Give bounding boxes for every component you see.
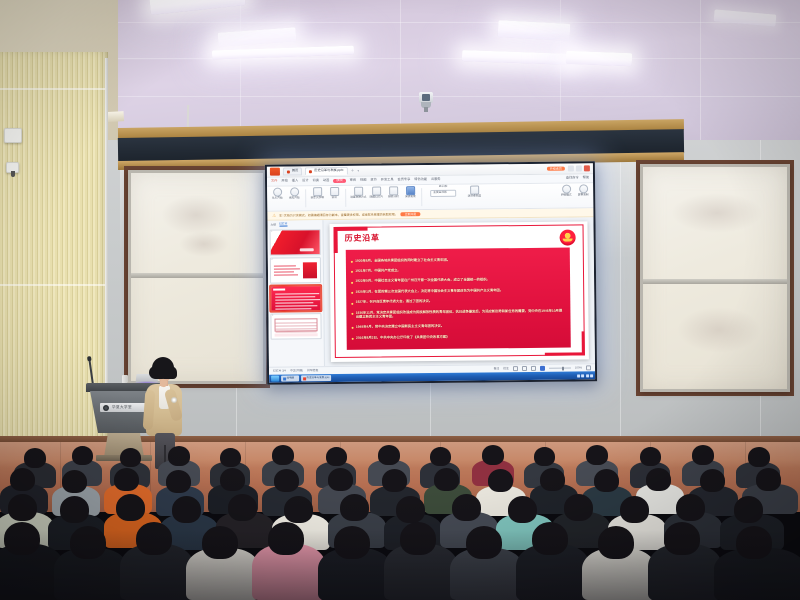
taskbar-item-explorer[interactable]: 此电脑 bbox=[281, 375, 299, 381]
presenter-view-icon bbox=[470, 185, 479, 194]
list-item bbox=[24, 448, 46, 468]
list-item: 2016年8月2日，中共中央办公厅印发了《共青团中央改革方案》 bbox=[352, 334, 566, 340]
ppt-file-icon bbox=[309, 170, 312, 173]
list-item bbox=[400, 522, 436, 555]
list-item bbox=[430, 447, 451, 466]
list-item bbox=[274, 469, 299, 492]
tab-presentation-file[interactable]: 历史沿革与发展.pptx bbox=[305, 167, 347, 175]
menu-item-section[interactable]: 章节 bbox=[370, 179, 376, 182]
list-item bbox=[136, 522, 172, 555]
ribbon-play-from-start[interactable]: 从头开始 bbox=[270, 188, 284, 210]
thumb-title-bar bbox=[273, 288, 285, 290]
thumb-table bbox=[274, 318, 317, 331]
list-item bbox=[334, 526, 370, 559]
list-item bbox=[734, 496, 763, 523]
list-item: 1921年7月，中国共产党成立。 bbox=[351, 268, 565, 274]
ribbon-label: 自定义放映 bbox=[310, 197, 323, 200]
upgrade-membership-button[interactable]: 升级会员 bbox=[547, 167, 565, 171]
menu-item-cloud[interactable]: 云服务 bbox=[431, 178, 441, 181]
monitor-label: 显示器: bbox=[439, 186, 448, 189]
list-item: 1925年1月，在团的第三次全国代表大会上，决定将中国社会主义青年团改名为中国共… bbox=[351, 288, 565, 294]
menu-item-view[interactable]: 视图 bbox=[360, 179, 366, 182]
wall-panel-icon bbox=[4, 128, 22, 143]
list-item bbox=[532, 522, 568, 555]
notes-button[interactable]: 备注 bbox=[494, 367, 500, 370]
bullet-text: 1920年8月，全国各地共青团组织的同时建立了社会主义青年团。 bbox=[355, 258, 450, 263]
hide-slide-icon bbox=[372, 187, 381, 196]
list-item bbox=[70, 526, 106, 559]
list-item bbox=[598, 526, 634, 559]
list-item bbox=[120, 448, 141, 467]
hanging-pole bbox=[105, 58, 108, 388]
slide-corner-accent bbox=[334, 227, 338, 253]
list-item bbox=[382, 469, 407, 492]
ribbon-monitor-select[interactable]: 显示器: 主要监视器 bbox=[426, 186, 460, 208]
bullet-text: 1927年，召开白区青年代表大会，通过了团的决议。 bbox=[356, 300, 433, 305]
ribbon-label: 从头开始 bbox=[272, 198, 283, 201]
fit-to-window-icon[interactable] bbox=[586, 365, 591, 370]
list-item[interactable]: 1 bbox=[270, 229, 321, 256]
bullet-text: 1936年11月，党决定共青团组织改造成为民族解放性质的青年团体，抗日战争爆发后… bbox=[356, 309, 566, 319]
bullet-text: 2016年8月2日，中共中央办公厅印发了《共青团中央改革方案》 bbox=[356, 335, 449, 340]
bullet-icon bbox=[351, 292, 353, 294]
list-item bbox=[508, 496, 537, 523]
bullet-icon bbox=[351, 271, 353, 273]
list-item bbox=[564, 494, 593, 521]
list-item: 1920年8月，全国各地共青团组织的同时建立了社会主义青年团。 bbox=[351, 257, 565, 263]
bullet-icon bbox=[351, 282, 353, 284]
list-item bbox=[534, 447, 555, 466]
list-item bbox=[10, 468, 35, 491]
search-command-label[interactable]: 查找命令 bbox=[566, 177, 579, 180]
eye-care-icon bbox=[562, 185, 571, 194]
list-item bbox=[378, 445, 400, 465]
list-item bbox=[664, 522, 700, 555]
list-item bbox=[482, 445, 504, 465]
list-item bbox=[700, 469, 725, 492]
monitor-value[interactable]: 主要监视器 bbox=[430, 189, 456, 196]
list-item bbox=[172, 496, 201, 523]
list-item bbox=[340, 494, 369, 521]
ribbon-presenter-view[interactable]: 演讲者视图 bbox=[463, 185, 485, 207]
university-crest-icon bbox=[103, 405, 109, 411]
list-item bbox=[586, 445, 608, 465]
plus-icon[interactable]: ＋ bbox=[351, 169, 355, 173]
slide-thumbnail-rail[interactable]: 大纲 幻灯片 1 2 3 bbox=[267, 220, 325, 367]
list-item: 1936年11月，党决定共青团组织改造成为民族解放性质的青年团体，抗日战争爆发后… bbox=[351, 309, 565, 319]
list-item bbox=[488, 469, 513, 492]
zoom-level: 100% bbox=[575, 367, 582, 370]
minimize-icon[interactable] bbox=[568, 165, 574, 171]
thumb-number: 4 bbox=[272, 315, 273, 317]
play-current-icon bbox=[290, 187, 299, 196]
ribbon-meeting[interactable]: 会议 bbox=[327, 187, 341, 209]
window-controls[interactable] bbox=[568, 165, 590, 171]
ribbon-label: 屏幕录制 bbox=[578, 194, 589, 197]
ribbon-hide-slide[interactable]: 隐藏幻灯片 bbox=[369, 186, 383, 208]
list-item bbox=[168, 446, 190, 466]
bullet-icon bbox=[351, 261, 353, 263]
list-item bbox=[326, 447, 347, 466]
screen-record-icon bbox=[579, 184, 588, 193]
ribbon-show-settings[interactable]: 设置放映方式 bbox=[350, 187, 366, 209]
spellcheck-label[interactable]: 拼写检查 bbox=[307, 369, 318, 372]
list-item bbox=[466, 526, 502, 559]
list-item: 1949年4月，党中央决定建立中国新民主主义青年团的决议。 bbox=[352, 324, 566, 330]
thumb-number: 1 bbox=[271, 231, 272, 233]
home-icon bbox=[287, 170, 290, 173]
bullet-icon bbox=[352, 338, 354, 340]
list-item bbox=[284, 496, 313, 523]
list-item bbox=[72, 446, 93, 465]
ribbon-label: 演讲者视图 bbox=[468, 195, 481, 198]
bullet-text: 1921年7月，中国共产党成立。 bbox=[355, 269, 400, 273]
slideshow-icon[interactable] bbox=[540, 366, 545, 371]
menu-item-transition[interactable]: 切换 bbox=[313, 180, 319, 183]
tab-home-label: 首页 bbox=[292, 170, 298, 173]
help-label[interactable]: 帮助 bbox=[583, 177, 589, 180]
activate-button[interactable]: 立即开通 bbox=[401, 212, 420, 216]
list-item bbox=[640, 447, 661, 466]
bullet-icon bbox=[352, 327, 354, 329]
tab-slides[interactable]: 幻灯片 bbox=[279, 223, 287, 227]
list-item bbox=[4, 522, 40, 555]
communist-youth-league-emblem-icon bbox=[560, 229, 576, 245]
taskbar-item-presentation[interactable]: 历史沿革与发展.pptx bbox=[301, 375, 331, 381]
start-button-icon[interactable] bbox=[271, 376, 279, 382]
list-item bbox=[434, 468, 459, 491]
list-item bbox=[676, 494, 705, 521]
ribbon-rehearse[interactable]: 排练计时 bbox=[386, 186, 400, 208]
slide-title: 历史沿革 bbox=[345, 235, 380, 243]
record-icon bbox=[406, 186, 415, 195]
wps-logo-icon bbox=[270, 168, 280, 176]
list-item bbox=[268, 522, 304, 555]
custom-show-icon bbox=[313, 187, 322, 196]
list-item bbox=[228, 494, 257, 521]
whiteboard-left bbox=[128, 170, 266, 384]
list-item bbox=[646, 468, 671, 491]
rehearse-timing-icon bbox=[389, 186, 398, 195]
taskbar-item-label: 此电脑 bbox=[287, 377, 295, 380]
sorter-view-icon[interactable] bbox=[522, 366, 527, 371]
notice-text: 本ं文档为只读模式，如需编辑请另存为副本。查看更多权限，或者联系管理员获取权限。 bbox=[279, 213, 398, 217]
thumb-footer bbox=[275, 333, 318, 336]
menu-item-slideshow[interactable]: 放映 bbox=[333, 179, 345, 183]
tab-home[interactable]: 首页 bbox=[283, 167, 302, 175]
volume-icon[interactable] bbox=[581, 374, 584, 377]
list-item bbox=[166, 470, 191, 493]
bullet-icon bbox=[351, 303, 353, 305]
maximize-icon[interactable] bbox=[576, 165, 582, 171]
ribbon-label: 护眼模式 bbox=[561, 195, 572, 198]
slide-bullet-list: 1920年8月，全国各地共青团组织的同时建立了社会主义青年团。 1921年7月，… bbox=[346, 248, 571, 350]
tab-outline[interactable]: 大纲 bbox=[270, 223, 276, 226]
tab-file-label: 历史沿革与发展.pptx bbox=[314, 169, 343, 173]
menu-item-design[interactable]: 设计 bbox=[302, 180, 308, 183]
name-badge bbox=[171, 397, 177, 403]
workspace: 大纲 幻灯片 1 2 3 bbox=[267, 217, 595, 366]
app-ribbon: 从头开始 当页开始 自定义放映 会议 设置放映方式 bbox=[267, 183, 593, 211]
show-settings-icon bbox=[354, 187, 363, 196]
menu-item-developer[interactable]: 开发工具 bbox=[381, 179, 394, 182]
system-tray[interactable] bbox=[577, 374, 594, 377]
whiteboard-right bbox=[640, 164, 790, 392]
clock-icon[interactable] bbox=[590, 374, 593, 377]
presentation-display[interactable]: 首页 历史沿革与发展.pptx ＋ ▾ 升级会员 文件 开始 bbox=[265, 161, 597, 384]
ribbon-play-current[interactable]: 当页开始 bbox=[287, 187, 301, 209]
slide-corner-accent bbox=[581, 331, 585, 355]
normal-view-icon[interactable] bbox=[513, 366, 518, 371]
thumb-number: 2 bbox=[271, 259, 272, 261]
menu-item-animation[interactable]: 动画 bbox=[323, 179, 329, 182]
list-item bbox=[202, 526, 238, 559]
thumb-graphic bbox=[303, 262, 317, 278]
list-item: 1927年，召开白区青年代表大会，通过了团的决议。 bbox=[351, 299, 565, 305]
comment-button[interactable]: 批注 bbox=[503, 367, 509, 370]
ribbon-label: 排练计时 bbox=[388, 196, 399, 199]
list-item bbox=[736, 526, 772, 559]
list-item bbox=[8, 494, 37, 521]
ribbon-label: 设置放映方式 bbox=[350, 197, 366, 200]
security-camera-icon bbox=[418, 92, 434, 112]
menu-file[interactable]: 文件 bbox=[271, 180, 277, 183]
podium-plate-text: 华夏大学堂 bbox=[112, 405, 132, 410]
list-item bbox=[328, 468, 353, 491]
ribbon-label: 隐藏幻灯片 bbox=[370, 196, 383, 199]
ribbon-label: 演讲实录 bbox=[405, 196, 416, 199]
input-method-icon[interactable] bbox=[586, 374, 589, 377]
list-item bbox=[594, 469, 619, 492]
rail-tabs: 大纲 幻灯片 bbox=[269, 222, 320, 227]
taskbar-item-label: 历史沿革与发展.pptx bbox=[307, 377, 330, 380]
ribbon-screen-record[interactable]: 屏幕录制 bbox=[576, 184, 590, 206]
bullet-text: 1949年4月，党中央决定建立中国新民主主义青年团的决议。 bbox=[356, 325, 444, 330]
ribbon-custom-show[interactable]: 自定义放映 bbox=[310, 187, 324, 209]
ribbon-label: 会议 bbox=[332, 197, 337, 200]
menu-item-review[interactable]: 审阅 bbox=[350, 179, 356, 182]
ceiling-light bbox=[498, 20, 571, 41]
ceiling-light bbox=[462, 50, 574, 65]
chevron-down-icon[interactable]: ▾ bbox=[358, 169, 360, 172]
list-item bbox=[220, 448, 241, 467]
audience bbox=[0, 432, 800, 600]
bullet-text: 1922年5月，中国社会主义青年团在广州召开第一次全国代表大会，成立了全国统一的… bbox=[355, 279, 489, 284]
lecture-hall-photo: 首页 历史沿革与发展.pptx ＋ ▾ 升级会员 文件 开始 bbox=[0, 0, 800, 600]
list-item bbox=[220, 468, 245, 491]
list-item[interactable]: 4 bbox=[270, 313, 321, 340]
warning-triangle-icon: ⚠ bbox=[272, 214, 276, 218]
ribbon-record[interactable]: 演讲实录 bbox=[403, 186, 417, 208]
ribbon-eye-care[interactable]: 护眼模式 bbox=[559, 185, 573, 207]
ceiling-light bbox=[566, 51, 632, 66]
list-item bbox=[396, 496, 425, 523]
list-item bbox=[748, 447, 770, 467]
menu-item-insert[interactable]: 插入 bbox=[292, 180, 298, 183]
ppt-file-icon bbox=[303, 377, 306, 380]
close-icon[interactable] bbox=[584, 165, 590, 171]
play-from-start-icon bbox=[273, 188, 282, 197]
menu-item-member[interactable]: 会员专享 bbox=[398, 179, 411, 182]
list-item bbox=[60, 496, 89, 523]
slide-indicator: 幻灯片 3/4 bbox=[273, 370, 286, 373]
language-label[interactable]: 中文(中国) bbox=[290, 369, 303, 372]
meeting-icon bbox=[330, 187, 339, 196]
ribbon-label: 当页开始 bbox=[289, 197, 300, 200]
slide-corner-accent bbox=[334, 227, 368, 231]
ceiling-light bbox=[714, 9, 777, 26]
motion-sensor-icon bbox=[6, 162, 19, 173]
file-explorer-icon bbox=[283, 377, 286, 380]
current-slide[interactable]: 历史沿革 1920年8月，全国各地共青团组织的同时建立了社会主义青年团。 192… bbox=[329, 221, 588, 362]
network-icon[interactable] bbox=[577, 374, 580, 377]
slide-corner-accent bbox=[545, 352, 585, 356]
list-item[interactable]: 3 bbox=[270, 285, 321, 312]
bullet-text: 1925年1月，在团的第三次全国代表大会上，决定将中国社会主义青年团改名为中国共… bbox=[355, 289, 503, 294]
list-item: 1922年5月，中国社会主义青年团在广州召开第一次全国代表大会，成立了全国统一的… bbox=[351, 278, 565, 284]
zoom-slider[interactable] bbox=[549, 368, 571, 369]
list-item bbox=[62, 470, 87, 493]
bullet-icon bbox=[351, 313, 353, 315]
list-item[interactable]: 2 bbox=[270, 257, 321, 284]
list-item bbox=[116, 494, 145, 521]
list-item bbox=[692, 445, 714, 465]
menu-item-features[interactable]: 特色功能 bbox=[414, 178, 427, 181]
list-item bbox=[452, 494, 481, 521]
list-item bbox=[620, 496, 649, 523]
slide-editing-stage[interactable]: 历史沿革 1920年8月，全国各地共青团组织的同时建立了社会主义青年团。 192… bbox=[323, 217, 595, 366]
menu-item-start[interactable]: 开始 bbox=[281, 180, 287, 183]
reading-view-icon[interactable] bbox=[531, 366, 536, 371]
list-item bbox=[114, 468, 139, 491]
list-item bbox=[756, 468, 781, 491]
list-item bbox=[272, 445, 294, 465]
list-item bbox=[540, 468, 565, 491]
